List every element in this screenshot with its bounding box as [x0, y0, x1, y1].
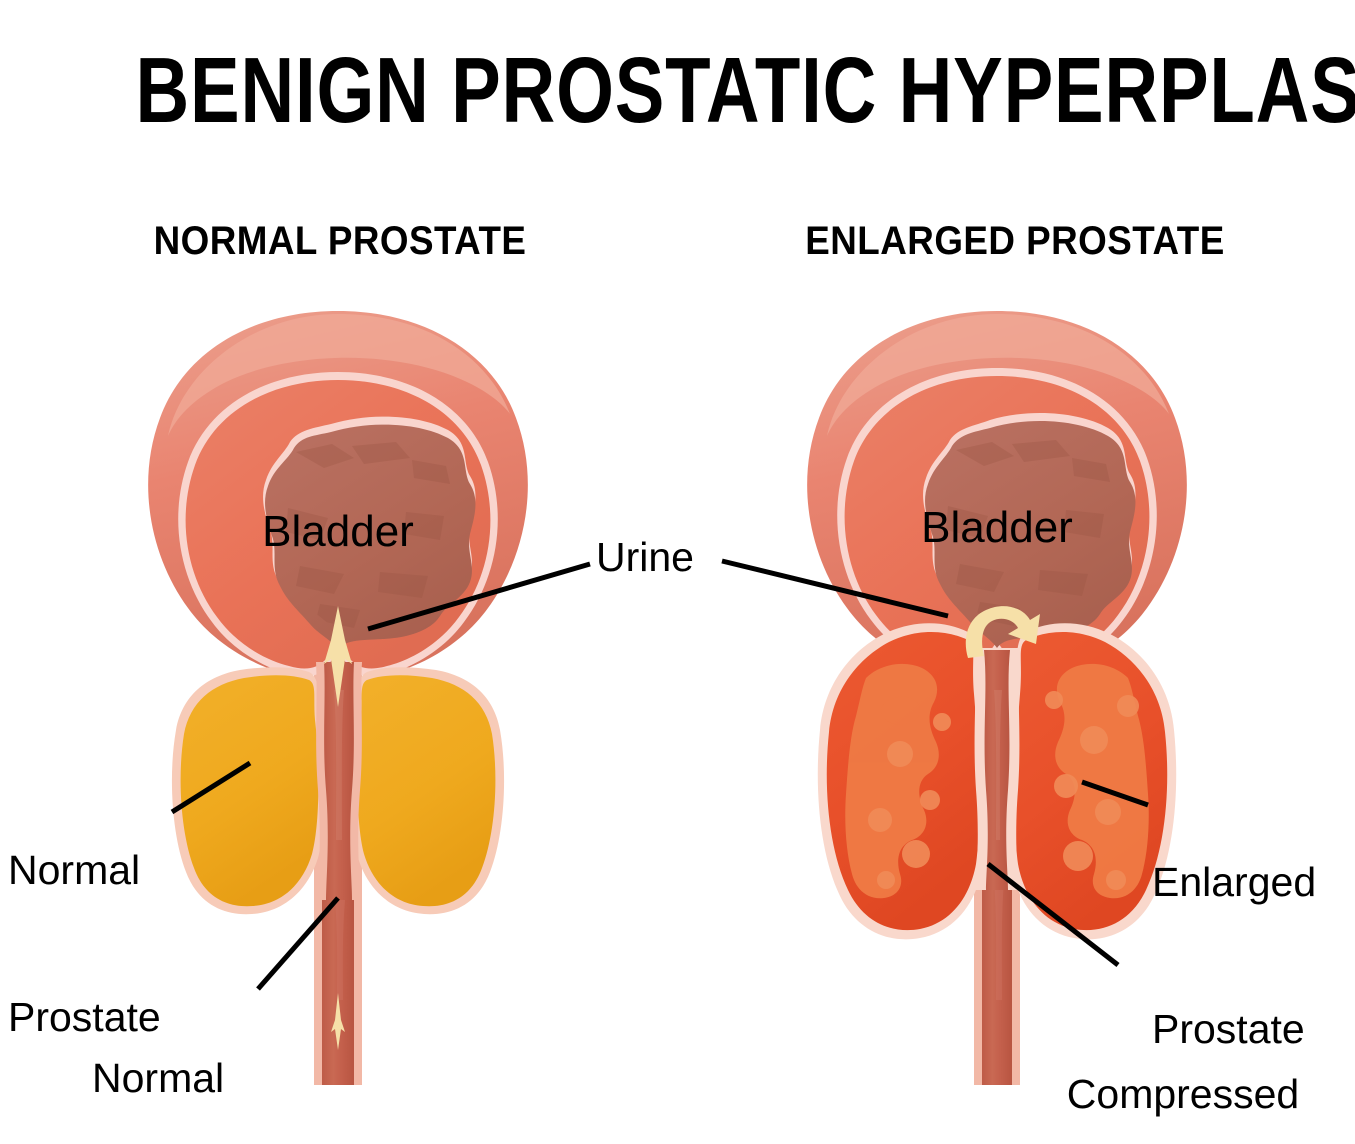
label-normal-urethra-line1: Normal	[92, 1054, 292, 1103]
label-compressed-urethra-line1: Compressed	[1038, 1070, 1328, 1119]
illustration-canvas: BENIGN PROSTATIC HYPERPLASIA NORMAL PROS…	[0, 0, 1355, 1144]
label-urine: Urine	[596, 533, 694, 582]
label-normal-urethra: Normal Urethra	[92, 956, 292, 1144]
label-normal-prostate-line1: Normal	[8, 846, 184, 895]
label-enlarged-prostate-line1: Enlarged	[1152, 858, 1352, 907]
label-compressed-urethra: Compressed Urethra	[1038, 972, 1328, 1144]
bladder-label-right: Bladder	[921, 503, 1073, 552]
right-diagram-enlarged-prostate	[722, 311, 1187, 1085]
bladder-label-left: Bladder	[262, 507, 414, 556]
